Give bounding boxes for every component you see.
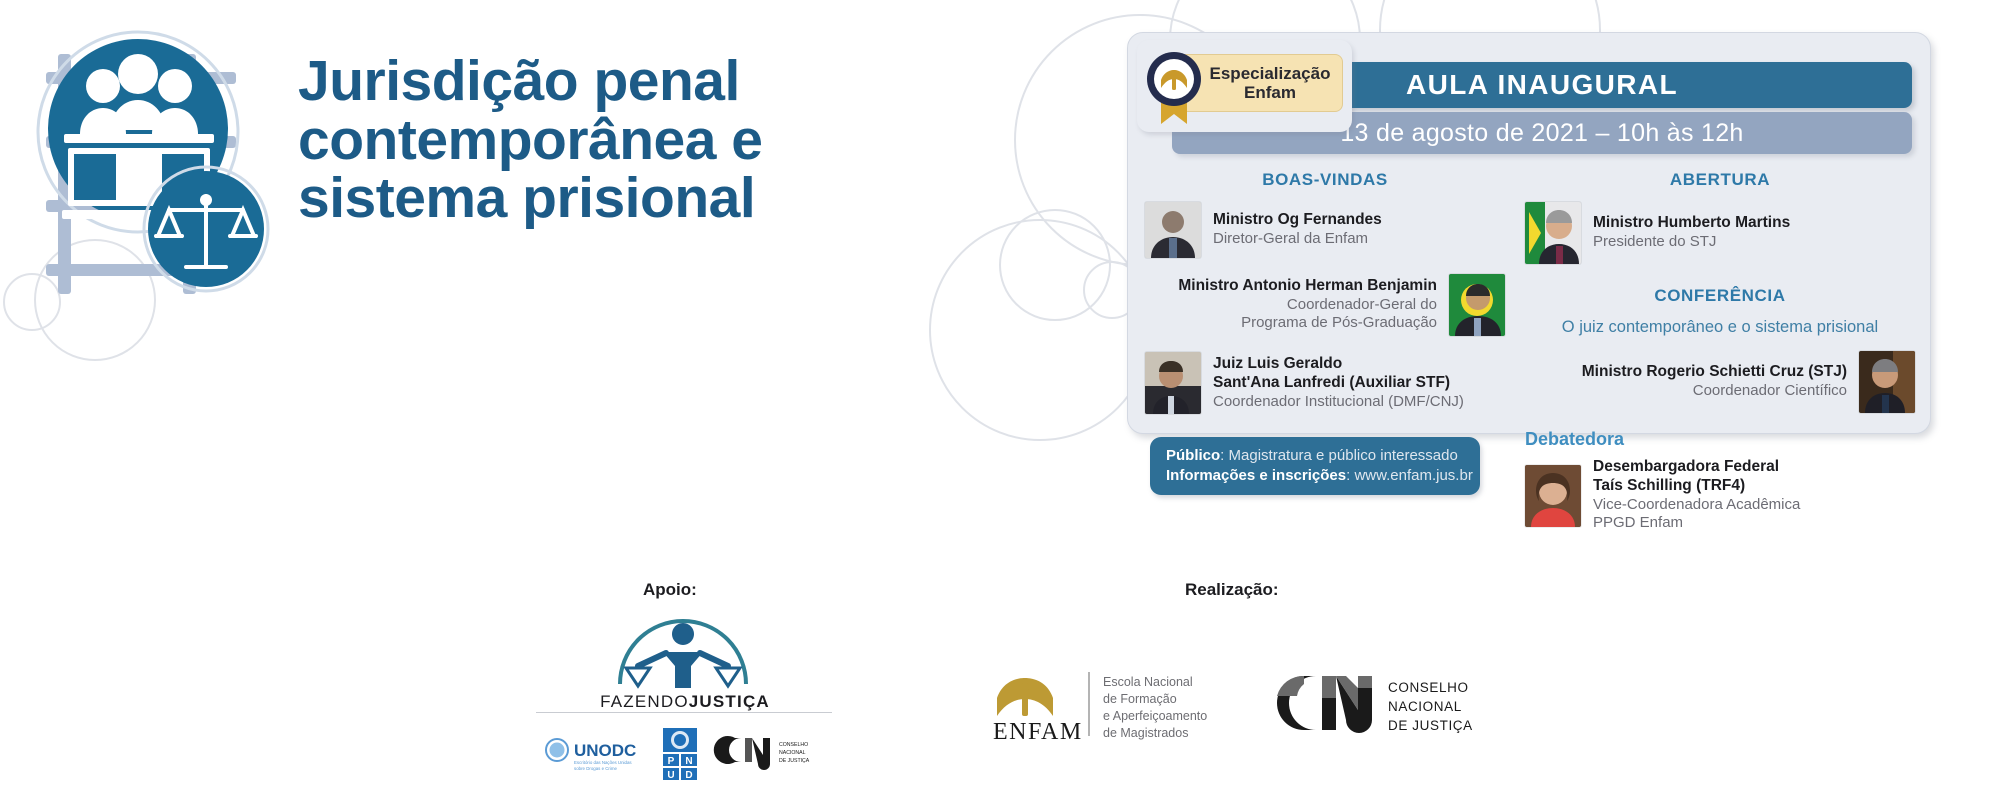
avatar xyxy=(1145,202,1201,258)
svg-text:UNODC: UNODC xyxy=(574,741,636,760)
svg-text:D: D xyxy=(685,770,692,780)
speaker-name: Ministro Rogerio Schietti Cruz (STJ) xyxy=(1582,363,1847,382)
svg-text:P: P xyxy=(668,756,675,767)
speaker-role: Coordenador-Geral do Programa de Pós-Gra… xyxy=(1178,296,1437,333)
speaker-name: Juiz Luis Geraldo Sant'Ana Lanfredi (Aux… xyxy=(1213,355,1464,393)
svg-text:U: U xyxy=(667,770,674,780)
svg-text:de Magistrados: de Magistrados xyxy=(1103,726,1188,740)
realizacao-label: Realização: xyxy=(1185,580,1279,600)
svg-text:DE JUSTIÇA: DE JUSTIÇA xyxy=(1388,718,1473,733)
badge-line-1: Especialização xyxy=(1210,64,1331,83)
svg-text:de Formação: de Formação xyxy=(1103,692,1177,706)
inscricoes-label: Informações e inscrições xyxy=(1166,467,1346,484)
speaker-name: Ministro Humberto Martins xyxy=(1593,214,1790,233)
speaker-name: Ministro Og Fernandes xyxy=(1213,211,1382,230)
speaker-schietti-cruz: Ministro Rogerio Schietti Cruz (STJ) Coo… xyxy=(1525,351,1915,413)
section-heading-debatedora: Debatedora xyxy=(1525,429,1915,450)
especializacao-badge: Especialização Enfam xyxy=(1137,40,1352,132)
speaker-role: Vice-Coordenadora Acadêmica PPGD Enfam xyxy=(1593,496,1800,533)
avatar xyxy=(1525,202,1581,264)
title-line-1: Jurisdição penal xyxy=(298,52,998,111)
poster-canvas: Jurisdição penal contemporânea e sistema… xyxy=(0,0,2000,800)
svg-text:DE JUSTIÇA: DE JUSTIÇA xyxy=(779,758,810,764)
publico-line: Público: Magistratura e público interess… xyxy=(1166,446,1480,466)
boas-vindas-column: BOAS-VINDAS Ministro Og Fernandes Direto… xyxy=(1145,170,1505,430)
footer-divider xyxy=(536,712,832,713)
fazendo-justica-icon xyxy=(608,612,758,692)
speaker-lanfredi: Juiz Luis Geraldo Sant'Ana Lanfredi (Aux… xyxy=(1145,352,1505,414)
avatar xyxy=(1145,352,1201,414)
speaker-humberto-martins: Ministro Humberto Martins Presidente do … xyxy=(1525,202,1915,264)
conferencia-subtitle: O juiz contemporâneo e o sistema prision… xyxy=(1525,318,1915,337)
speaker-role: Presidente do STJ xyxy=(1593,233,1790,252)
svg-text:sobre Drogas e Crime: sobre Drogas e Crime xyxy=(574,766,618,771)
enfam-logo: ENFAM Escola Nacional de Formação e Aper… xyxy=(985,660,1235,744)
avatar xyxy=(1859,351,1915,413)
title-line-3: sistema prisional xyxy=(298,169,998,228)
speaker-herman-benjamin: Ministro Antonio Herman Benjamin Coorden… xyxy=(1145,274,1505,336)
svg-text:NACIONAL: NACIONAL xyxy=(1388,699,1462,714)
speaker-name: Desembargadora Federal Taís Schilling (T… xyxy=(1593,458,1800,496)
apoio-label: Apoio: xyxy=(643,580,697,600)
svg-text:N: N xyxy=(685,756,692,767)
justica-text: JUSTIÇA xyxy=(689,692,770,711)
medal-ribbon-icon xyxy=(1143,46,1205,126)
svg-text:ENFAM: ENFAM xyxy=(993,719,1083,744)
info-box: Público: Magistratura e público interess… xyxy=(1150,437,1480,495)
svg-text:CONSELHO: CONSELHO xyxy=(779,742,808,748)
svg-text:e Aperfeiçoamento: e Aperfeiçoamento xyxy=(1103,709,1207,723)
abertura-conferencia-column: ABERTURA Ministro Humberto Martins Presi… xyxy=(1525,170,1915,549)
inscricoes-url[interactable]: www.enfam.jus.br xyxy=(1354,467,1472,484)
section-heading-conferencia: CONFERÊNCIA xyxy=(1525,286,1915,306)
svg-text:Escritório das Nações Unidas: Escritório das Nações Unidas xyxy=(574,760,632,765)
publico-value: Magistratura e público interessado xyxy=(1229,447,1458,464)
speaker-role: Diretor-Geral da Enfam xyxy=(1213,230,1382,249)
speaker-name: Ministro Antonio Herman Benjamin xyxy=(1178,277,1437,296)
courtroom-bench-scales-emblem xyxy=(28,24,278,294)
speaker-tais-schilling: Desembargadora Federal Taís Schilling (T… xyxy=(1525,458,1915,533)
fazendo-justica-wordmark: FAZENDOJUSTIÇA xyxy=(535,692,835,712)
inscricoes-line: Informações e inscrições: www.enfam.jus.… xyxy=(1166,466,1480,486)
speaker-role: Coordenador Institucional (DMF/CNJ) xyxy=(1213,393,1464,412)
cnj-logo: CONSELHO NACIONAL DE JUSTIÇA xyxy=(1262,668,1477,738)
publico-label: Público xyxy=(1166,447,1220,464)
section-heading-boas-vindas: BOAS-VINDAS xyxy=(1145,170,1505,190)
svg-text:NACIONAL: NACIONAL xyxy=(779,750,806,756)
badge-line-2: Enfam xyxy=(1244,83,1296,102)
avatar xyxy=(1449,274,1505,336)
speaker-role: Coordenador Científico xyxy=(1582,382,1847,401)
avatar xyxy=(1525,465,1581,527)
section-heading-abertura: ABERTURA xyxy=(1525,170,1915,190)
speaker-og-fernandes: Ministro Og Fernandes Diretor-Geral da E… xyxy=(1145,202,1505,258)
page-title: Jurisdição penal contemporânea e sistema… xyxy=(298,52,998,228)
fazendo-text: FAZENDO xyxy=(600,692,689,711)
support-logos-row: UNODC Escritório das Nações Unidas sobre… xyxy=(535,726,835,780)
svg-text:Escola Nacional: Escola Nacional xyxy=(1103,675,1193,689)
title-line-2: contemporânea e xyxy=(298,111,998,170)
brand-block: Jurisdição penal contemporânea e sistema… xyxy=(20,18,1020,308)
svg-text:CONSELHO: CONSELHO xyxy=(1388,680,1469,695)
